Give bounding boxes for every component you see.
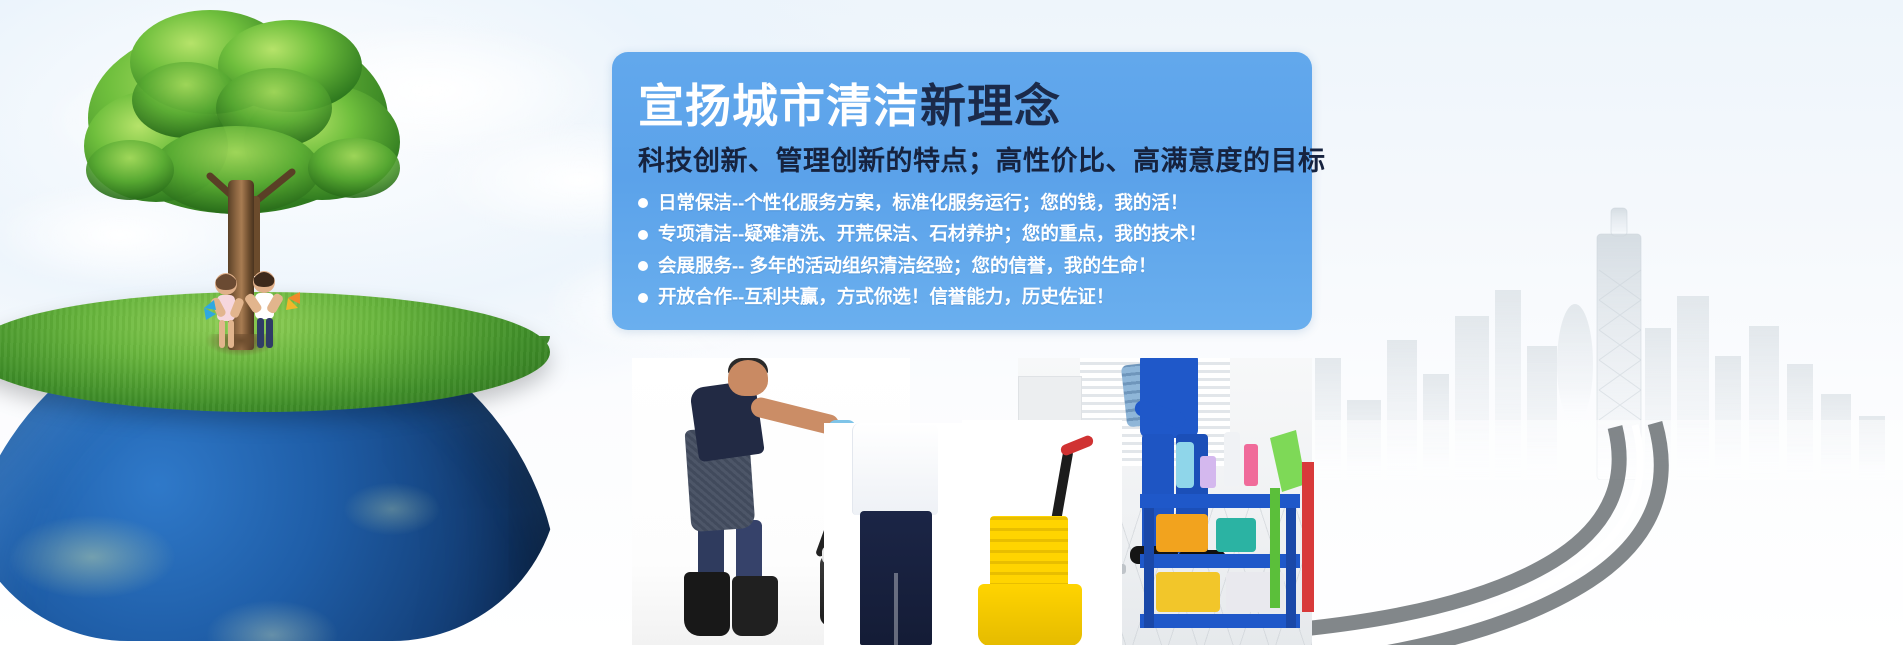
list-item-label: 会展服务-- 多年的活动组织清洁经验；您的信誉，我的生命！ <box>658 257 1156 276</box>
card-bullet-list: 日常保洁--个性化服务方案，标准化服务运行；您的钱，我的活！ 专项清洁--疑难清… <box>638 194 1312 307</box>
card-title-dark: 新理念 <box>920 80 1061 132</box>
photo-strip <box>632 358 1312 645</box>
banner-stage: 宣扬城市清洁新理念 科技创新、管理创新的特点；高性价比、高满意度的目标 日常保洁… <box>0 0 1903 645</box>
cleaning-supplies-cart <box>1120 422 1320 645</box>
list-item: 开放合作--互利共赢，方式你选！信誉能力，历史佐证！ <box>638 288 1312 307</box>
list-item-label: 开放合作--互利共赢，方式你选！信誉能力，历史佐证！ <box>658 288 1114 307</box>
card-title-highlight: 宣扬城市清洁 <box>638 80 920 132</box>
earth-globe-scene <box>0 250 580 645</box>
bullet-dot-icon <box>638 293 648 303</box>
list-item-label: 日常保洁--个性化服务方案，标准化服务运行；您的钱，我的活！ <box>658 194 1188 213</box>
list-item: 专项清洁--疑难清洗、开荒保洁、石材养护；您的重点，我的技术！ <box>638 225 1312 244</box>
two-children-under-tree <box>198 268 308 374</box>
card-title: 宣扬城市清洁新理念 <box>638 82 1312 131</box>
bullet-dot-icon <box>638 261 648 271</box>
info-card: 宣扬城市清洁新理念 科技创新、管理创新的特点；高性价比、高满意度的目标 日常保洁… <box>612 52 1312 330</box>
bullet-dot-icon <box>638 230 648 240</box>
bullet-dot-icon <box>638 198 648 208</box>
photo-yellow-mop-bucket-wringer <box>962 420 1122 645</box>
list-item: 会展服务-- 多年的活动组织清洁经验；您的信誉，我的生命！ <box>638 257 1312 276</box>
list-item-label: 专项清洁--疑难清洗、开荒保洁、石材养护；您的重点，我的技术！ <box>658 225 1207 244</box>
list-item: 日常保洁--个性化服务方案，标准化服务运行；您的钱，我的活！ <box>638 194 1312 213</box>
card-subtitle: 科技创新、管理创新的特点；高性价比、高满意度的目标 <box>638 139 1312 178</box>
